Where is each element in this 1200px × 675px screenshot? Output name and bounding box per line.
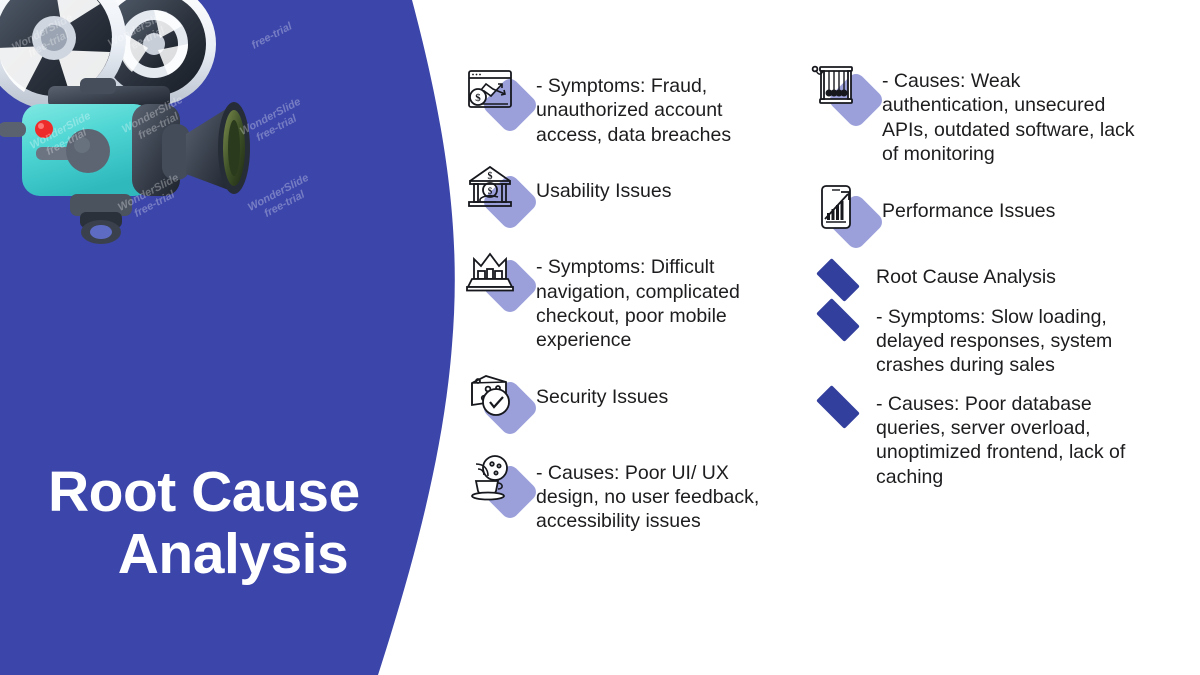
icon-container (462, 363, 536, 437)
list-item[interactable]: - Symptoms: Difficult navigation, compli… (462, 241, 792, 353)
list-item-text: - Symptoms: Fraud, unauthorized account … (536, 60, 792, 147)
list-item-text: Security Issues (536, 363, 792, 409)
icon-container (462, 447, 536, 521)
diamond-bullet-icon (816, 385, 860, 429)
smartphone-growth-chart-icon (810, 181, 862, 233)
list-item[interactable]: Root Cause Analysis (808, 265, 1148, 291)
list-item-text: - Causes: Weak authentication, unsecured… (882, 55, 1148, 167)
camera-illustration (0, 0, 312, 246)
list-item-text: - Causes: Poor database queries, server … (876, 392, 1148, 490)
list-item[interactable]: Performance Issues (808, 177, 1148, 251)
content-column-right: - Causes: Weak authentication, unsecured… (808, 55, 1148, 503)
list-item-text: - Symptoms: Difficult navigation, compli… (536, 241, 792, 353)
list-item[interactable]: - Causes: Poor database queries, server … (808, 392, 1148, 490)
list-item[interactable]: Security Issues (462, 363, 792, 437)
page-title-line-2: Analysis (48, 524, 418, 586)
coffee-cup-cookie-icon (464, 451, 516, 503)
list-item[interactable]: - Symptoms: Slow loading, delayed respon… (808, 305, 1148, 378)
page-title-line-1: Root Cause (48, 460, 360, 524)
svg-text:$: $ (475, 92, 481, 104)
list-item-text: Usability Issues (536, 157, 792, 203)
icon-container (808, 55, 882, 129)
icon-container (462, 241, 536, 315)
chart-growth-window-icon: $ (464, 64, 516, 116)
list-item[interactable]: - Causes: Weak authentication, unsecured… (808, 55, 1148, 167)
list-item[interactable]: - Causes: Poor UI/ UX design, no user fe… (462, 447, 792, 534)
list-item[interactable]: $ $ Usability Issues (462, 157, 792, 231)
house-building-icon (464, 245, 516, 297)
diamond-bullet-icon (816, 298, 860, 342)
newtons-cradle-icon (810, 59, 862, 111)
camera-illustration-svg (0, 0, 312, 246)
svg-text:$: $ (488, 186, 493, 196)
diamond-bullet-icon (816, 258, 860, 302)
slide-canvas: WonderSlidefree-trial WonderSlidefree-tr… (0, 0, 1200, 675)
cheese-check-icon (464, 367, 516, 419)
list-item[interactable]: $ - Symptoms: Fraud, unauthorized accoun… (462, 60, 792, 147)
list-item-text: Root Cause Analysis (876, 265, 1148, 289)
list-item-text: - Symptoms: Slow loading, delayed respon… (876, 305, 1148, 378)
svg-text:$: $ (488, 171, 493, 182)
diamond-bullet-list: Root Cause Analysis - Symptoms: Slow loa… (808, 265, 1148, 490)
content-column-left: $ - Symptoms: Fraud, unauthorized accoun… (462, 60, 792, 544)
list-item-text: - Causes: Poor UI/ UX design, no user fe… (536, 447, 792, 534)
icon-container: $ (462, 60, 536, 134)
icon-container (808, 177, 882, 251)
page-title: Root Cause Analysis (48, 462, 418, 585)
bank-coin-hand-icon: $ $ (464, 161, 516, 213)
icon-container: $ $ (462, 157, 536, 231)
list-item-text: Performance Issues (882, 177, 1148, 223)
